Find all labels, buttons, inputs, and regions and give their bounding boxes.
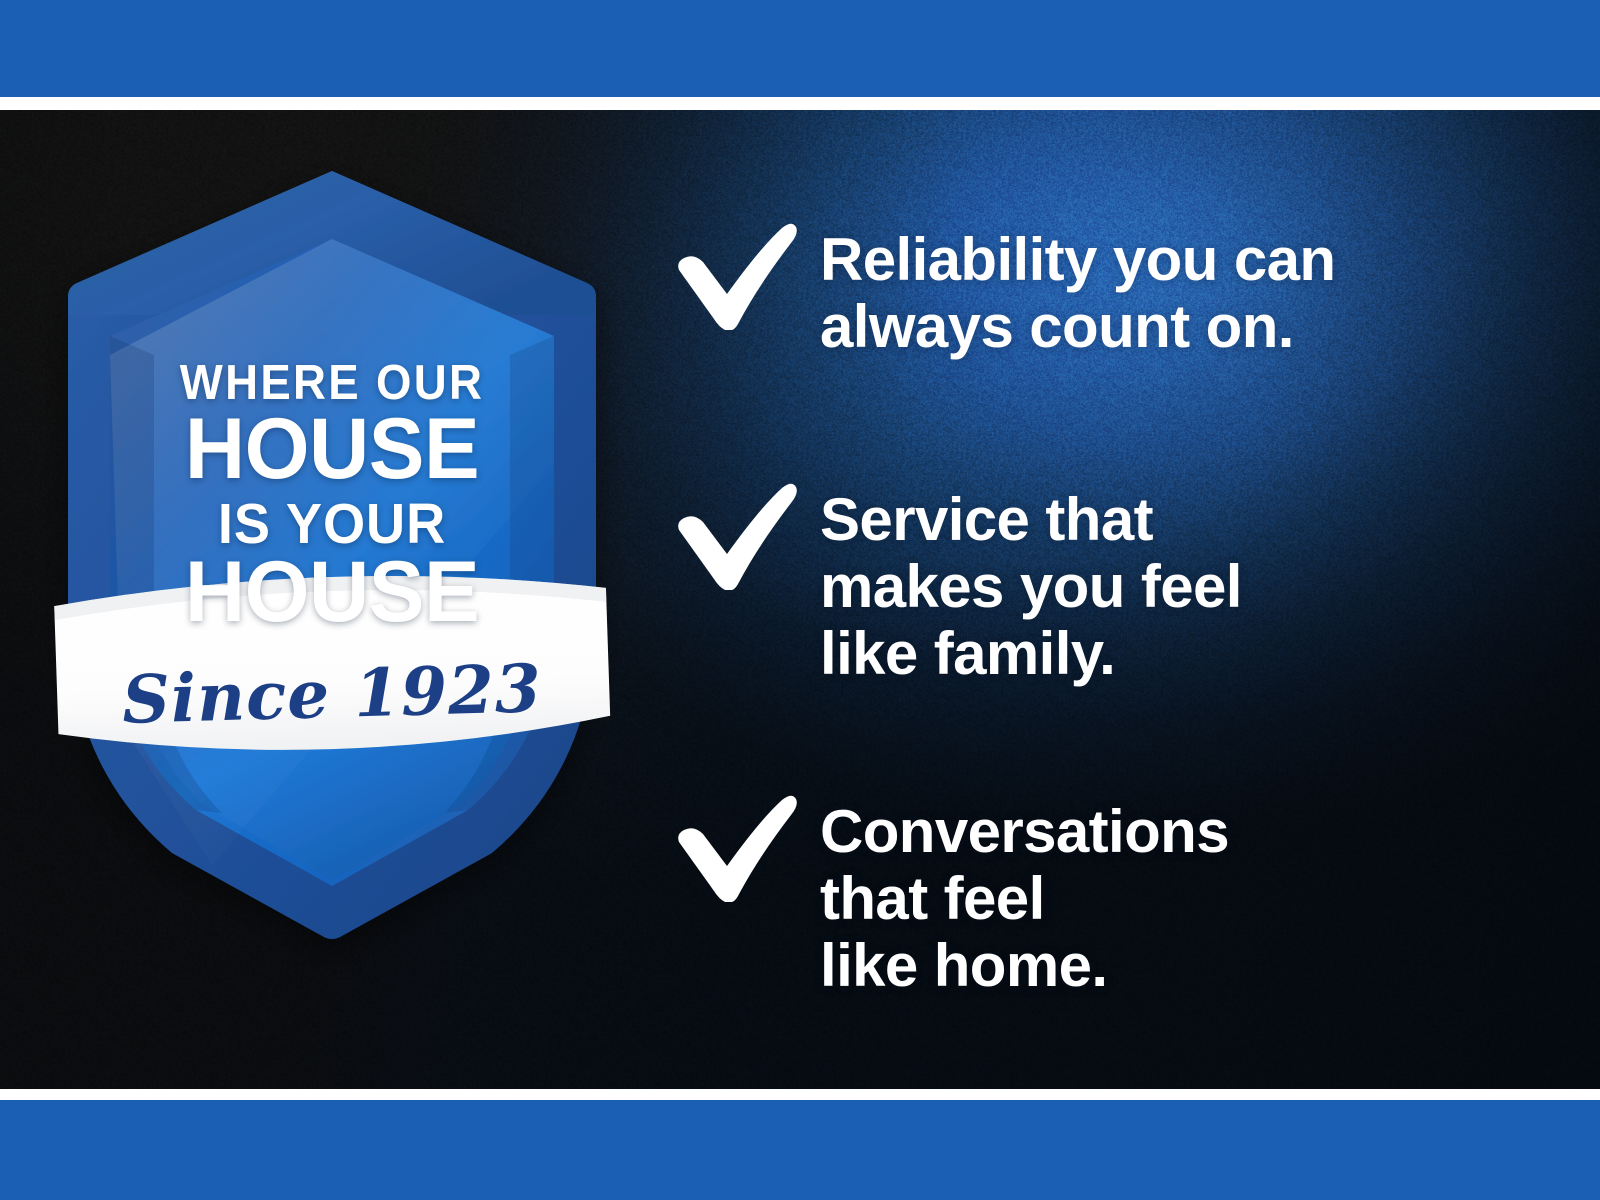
- top-brand-bar: [0, 0, 1600, 97]
- checkmark-icon: [672, 218, 798, 330]
- benefit-item: Conversations that feel like home.: [672, 790, 1229, 1000]
- badge-tagline-line2: House: [70, 410, 594, 489]
- badge-tagline-line1: Where Our: [81, 361, 583, 406]
- benefit-item: Service that makes you feel like family.: [672, 478, 1242, 688]
- badge-tagline-line4: House: [70, 553, 594, 632]
- badge-tagline-line3: Is Your: [76, 498, 589, 550]
- bottom-brand-bar: [0, 1100, 1600, 1200]
- bottom-white-divider: [0, 1089, 1600, 1100]
- benefit-text: Conversations that feel like home.: [820, 790, 1229, 1000]
- badge-since-text: Since 1923: [61, 653, 603, 734]
- shield-badge: Where Our House Is Your House Since 1923: [62, 165, 602, 945]
- benefit-item: Reliability you can always count on.: [672, 218, 1335, 360]
- checkmark-icon: [672, 790, 798, 902]
- top-white-divider: [0, 97, 1600, 110]
- checkmark-icon: [672, 478, 798, 590]
- benefit-text: Service that makes you feel like family.: [820, 478, 1242, 688]
- benefits-list: Reliability you can always count on. Ser…: [672, 110, 1532, 1089]
- benefit-text: Reliability you can always count on.: [820, 218, 1335, 360]
- promo-poster: Where Our House Is Your House Since 1923…: [0, 0, 1600, 1200]
